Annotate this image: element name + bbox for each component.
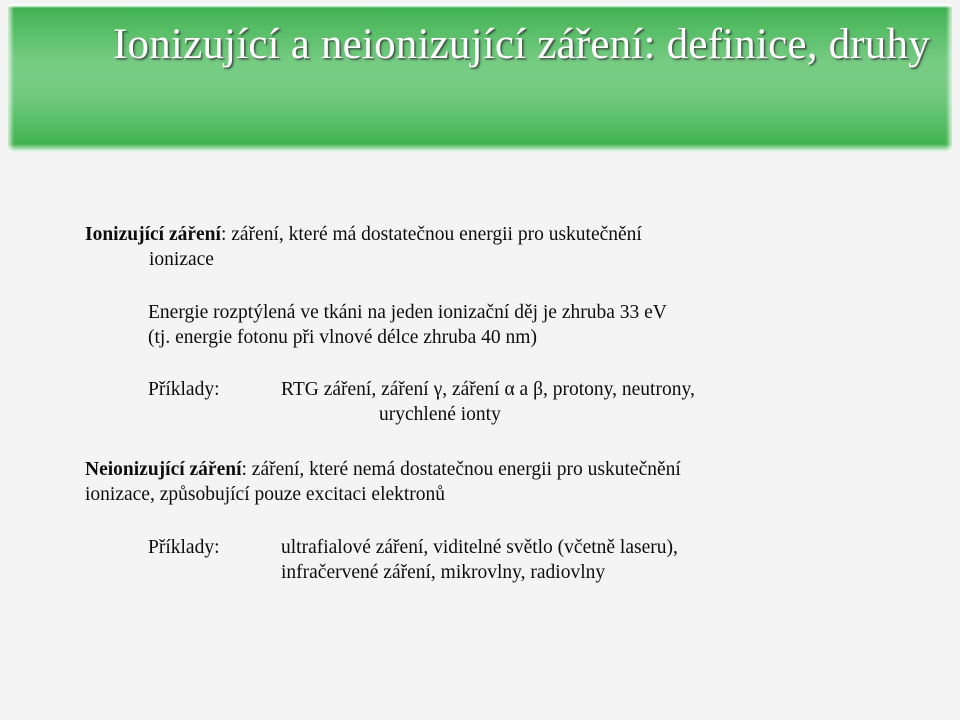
ionizing-definition-block: Ionizující záření: záření, které má dost… [85, 222, 945, 272]
non-ionizing-definition-line2: ionizace, způsobující pouze excitaci ele… [85, 482, 945, 507]
non-ionizing-term: Neionizující záření [85, 459, 242, 480]
ionizing-examples-line2: urychlené ionty [281, 402, 695, 427]
slide-title: Ionizující a neionizující záření: defini… [113, 18, 933, 72]
spacer [85, 272, 945, 300]
ionizing-definition-line1: : záření, které má dostatečnou energii p… [221, 224, 642, 245]
non-ionizing-definition-line1: : záření, které nemá dostatečnou energii… [242, 459, 681, 480]
ionizing-examples: Příklady:RTG záření, záření γ, záření α … [85, 377, 945, 427]
title-banner: Ionizující a neionizující záření: defini… [8, 4, 952, 152]
energy-note-line1: Energie rozptýlená ve tkáni na jeden ion… [148, 300, 945, 325]
non-ionizing-examples-line1: ultrafialové záření, viditelné světlo (v… [281, 535, 678, 560]
ionizing-definition-line2: ionizace [85, 247, 945, 272]
ionizing-examples-line1: RTG záření, záření γ, záření α a β, prot… [281, 377, 695, 402]
ionizing-examples-body: RTG záření, záření γ, záření α a β, prot… [281, 377, 695, 427]
non-ionizing-examples-line2: infračervené záření, mikrovlny, radiovln… [281, 560, 678, 585]
spacer [85, 350, 945, 377]
ionizing-examples-label: Příklady: [148, 377, 281, 402]
ionizing-term: Ionizující záření [85, 224, 221, 245]
non-ionizing-examples-body: ultrafialové záření, viditelné světlo (v… [281, 535, 678, 585]
non-ionizing-examples: Příklady:ultrafialové záření, viditelné … [85, 535, 945, 585]
spacer [85, 507, 945, 535]
ionizing-energy-note: Energie rozptýlená ve tkáni na jeden ion… [85, 300, 945, 350]
spacer [85, 427, 945, 457]
non-ionizing-definition-block: Neionizující záření: záření, které nemá … [85, 457, 945, 507]
slide: Ionizující a neionizující záření: defini… [0, 0, 960, 720]
ionizing-definition: Ionizující záření: záření, které má dost… [85, 222, 945, 272]
non-ionizing-definition: Neionizující záření: záření, které nemá … [85, 457, 945, 507]
slide-body: Ionizující záření: záření, které má dost… [85, 222, 945, 585]
non-ionizing-examples-label: Příklady: [148, 535, 281, 560]
energy-note-line2: (tj. energie fotonu při vlnové délce zhr… [148, 325, 945, 350]
